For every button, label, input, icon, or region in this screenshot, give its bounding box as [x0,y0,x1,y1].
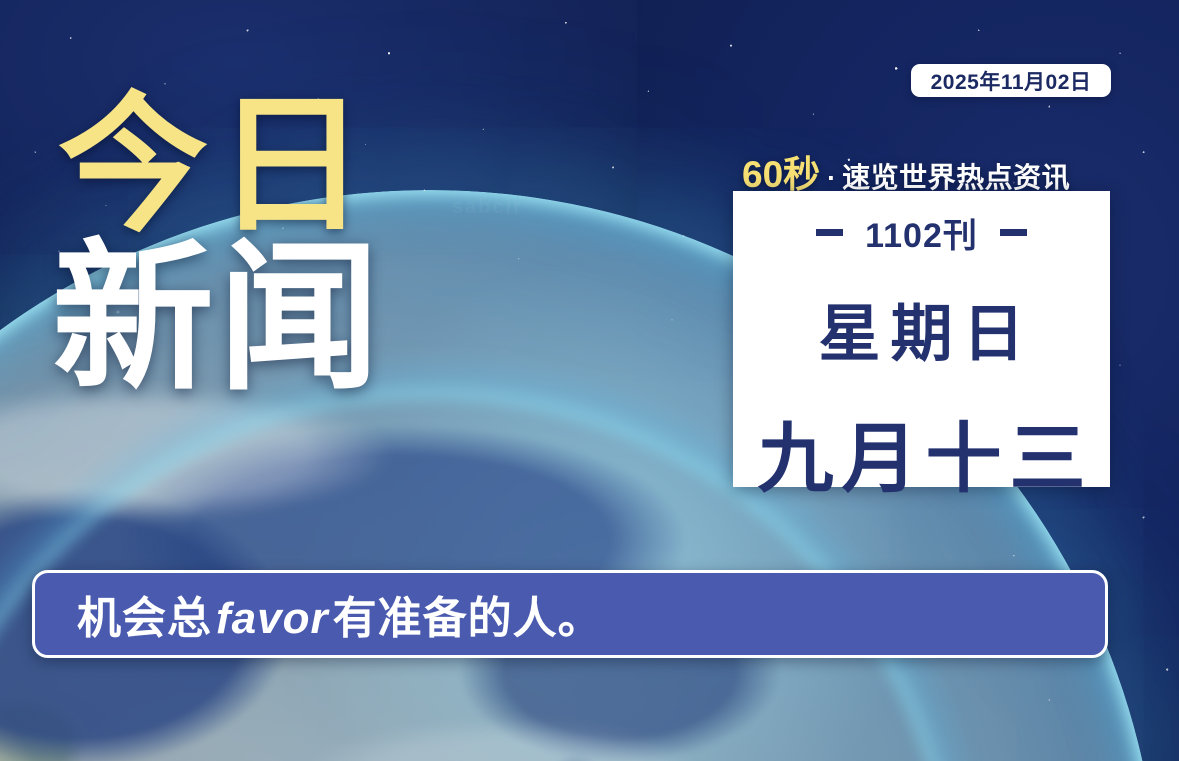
issue-number: 1102刊 [865,208,978,257]
tagline-separator: · [827,163,836,194]
quote-text: 机会总favor有准备的人。 [77,582,603,646]
quote-highlight: favor [212,594,333,643]
lunar-date-label: 九月十三 [750,397,1094,507]
tagline: 60秒 · 速览世界热点资讯 [742,144,1070,198]
weekday-label: 星期日 [808,283,1034,373]
tagline-text: 速览世界热点资讯 [842,156,1070,196]
quote-suffix: 有准备的人。 [333,594,603,643]
quote-prefix: 机会总 [77,594,212,643]
issue-info-card: 1102刊 星期日 九月十三 [733,191,1110,487]
title-line-jinri: 今日 [58,96,384,234]
date-badge: 2025年11月02日 [911,64,1111,97]
issue-dash-left [816,229,843,236]
tagline-duration: 60秒 [742,144,820,198]
quote-bar: 机会总favor有准备的人。 [32,570,1108,658]
news-poster: sabcir 今日 新闻 2025年11月02日 60秒 · 速览世界热点资讯 … [0,0,1179,761]
background-watermark: sabcir [452,196,523,219]
issue-dash-right [1000,229,1027,236]
title-line-xinwen: 新闻 [52,244,384,393]
page-title: 今日 新闻 [58,96,384,393]
issue-row: 1102刊 [816,208,1027,257]
